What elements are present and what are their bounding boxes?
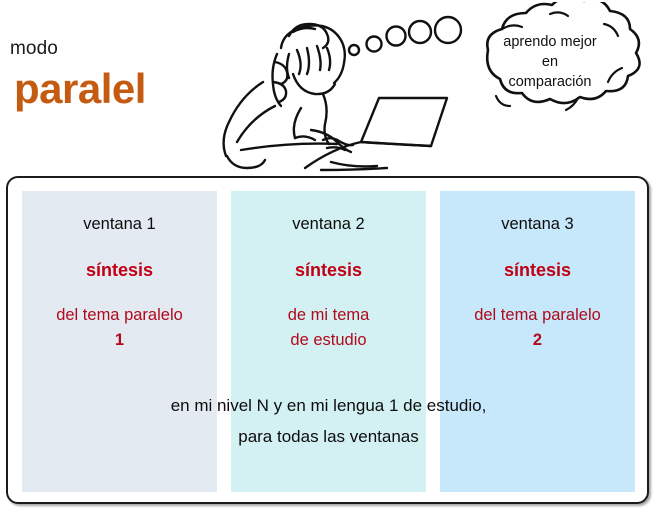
window-2-synthesis-label: síntesis [231,260,426,281]
footer-caption-line-1: en mi nivel N y en mi lengua 1 de estudi… [22,390,635,421]
window-1-detail-line-2: 1 [115,331,124,349]
footer-caption: en mi nivel N y en mi lengua 1 de estudi… [22,390,635,452]
window-2-title: ventana 2 [231,215,426,234]
window-2-detail: de mi tema de estudio [231,303,426,353]
window-3-detail-line-2: 2 [533,331,542,349]
thought-bubble-line-2: en [470,52,630,72]
window-3-synthesis-label: síntesis [440,260,635,281]
window-1-synthesis-label: síntesis [22,260,217,281]
window-2-detail-line-1: de mi tema [288,306,370,324]
window-3-title: ventana 3 [440,215,635,234]
mode-label: modo [10,38,58,60]
window-3-detail-line-1: del tema paralelo [474,306,601,324]
window-3-detail: del tema paralelo 2 [440,303,635,353]
header-area: modo paralel [0,0,657,175]
window-1-title: ventana 1 [22,215,217,234]
thought-bubble-line-1: aprendo mejor [470,32,630,52]
window-1-detail: del tema paralelo 1 [22,303,217,353]
window-1-detail-line-1: del tema paralelo [56,306,183,324]
footer-caption-line-2: para todas las ventanas [22,421,635,452]
window-2-detail-line-2: de estudio [290,331,366,349]
mode-name-title: paralel [14,68,146,110]
thought-bubble-line-3: comparación [470,72,630,92]
thought-bubble-text: aprendo mejor en comparación [470,32,630,92]
